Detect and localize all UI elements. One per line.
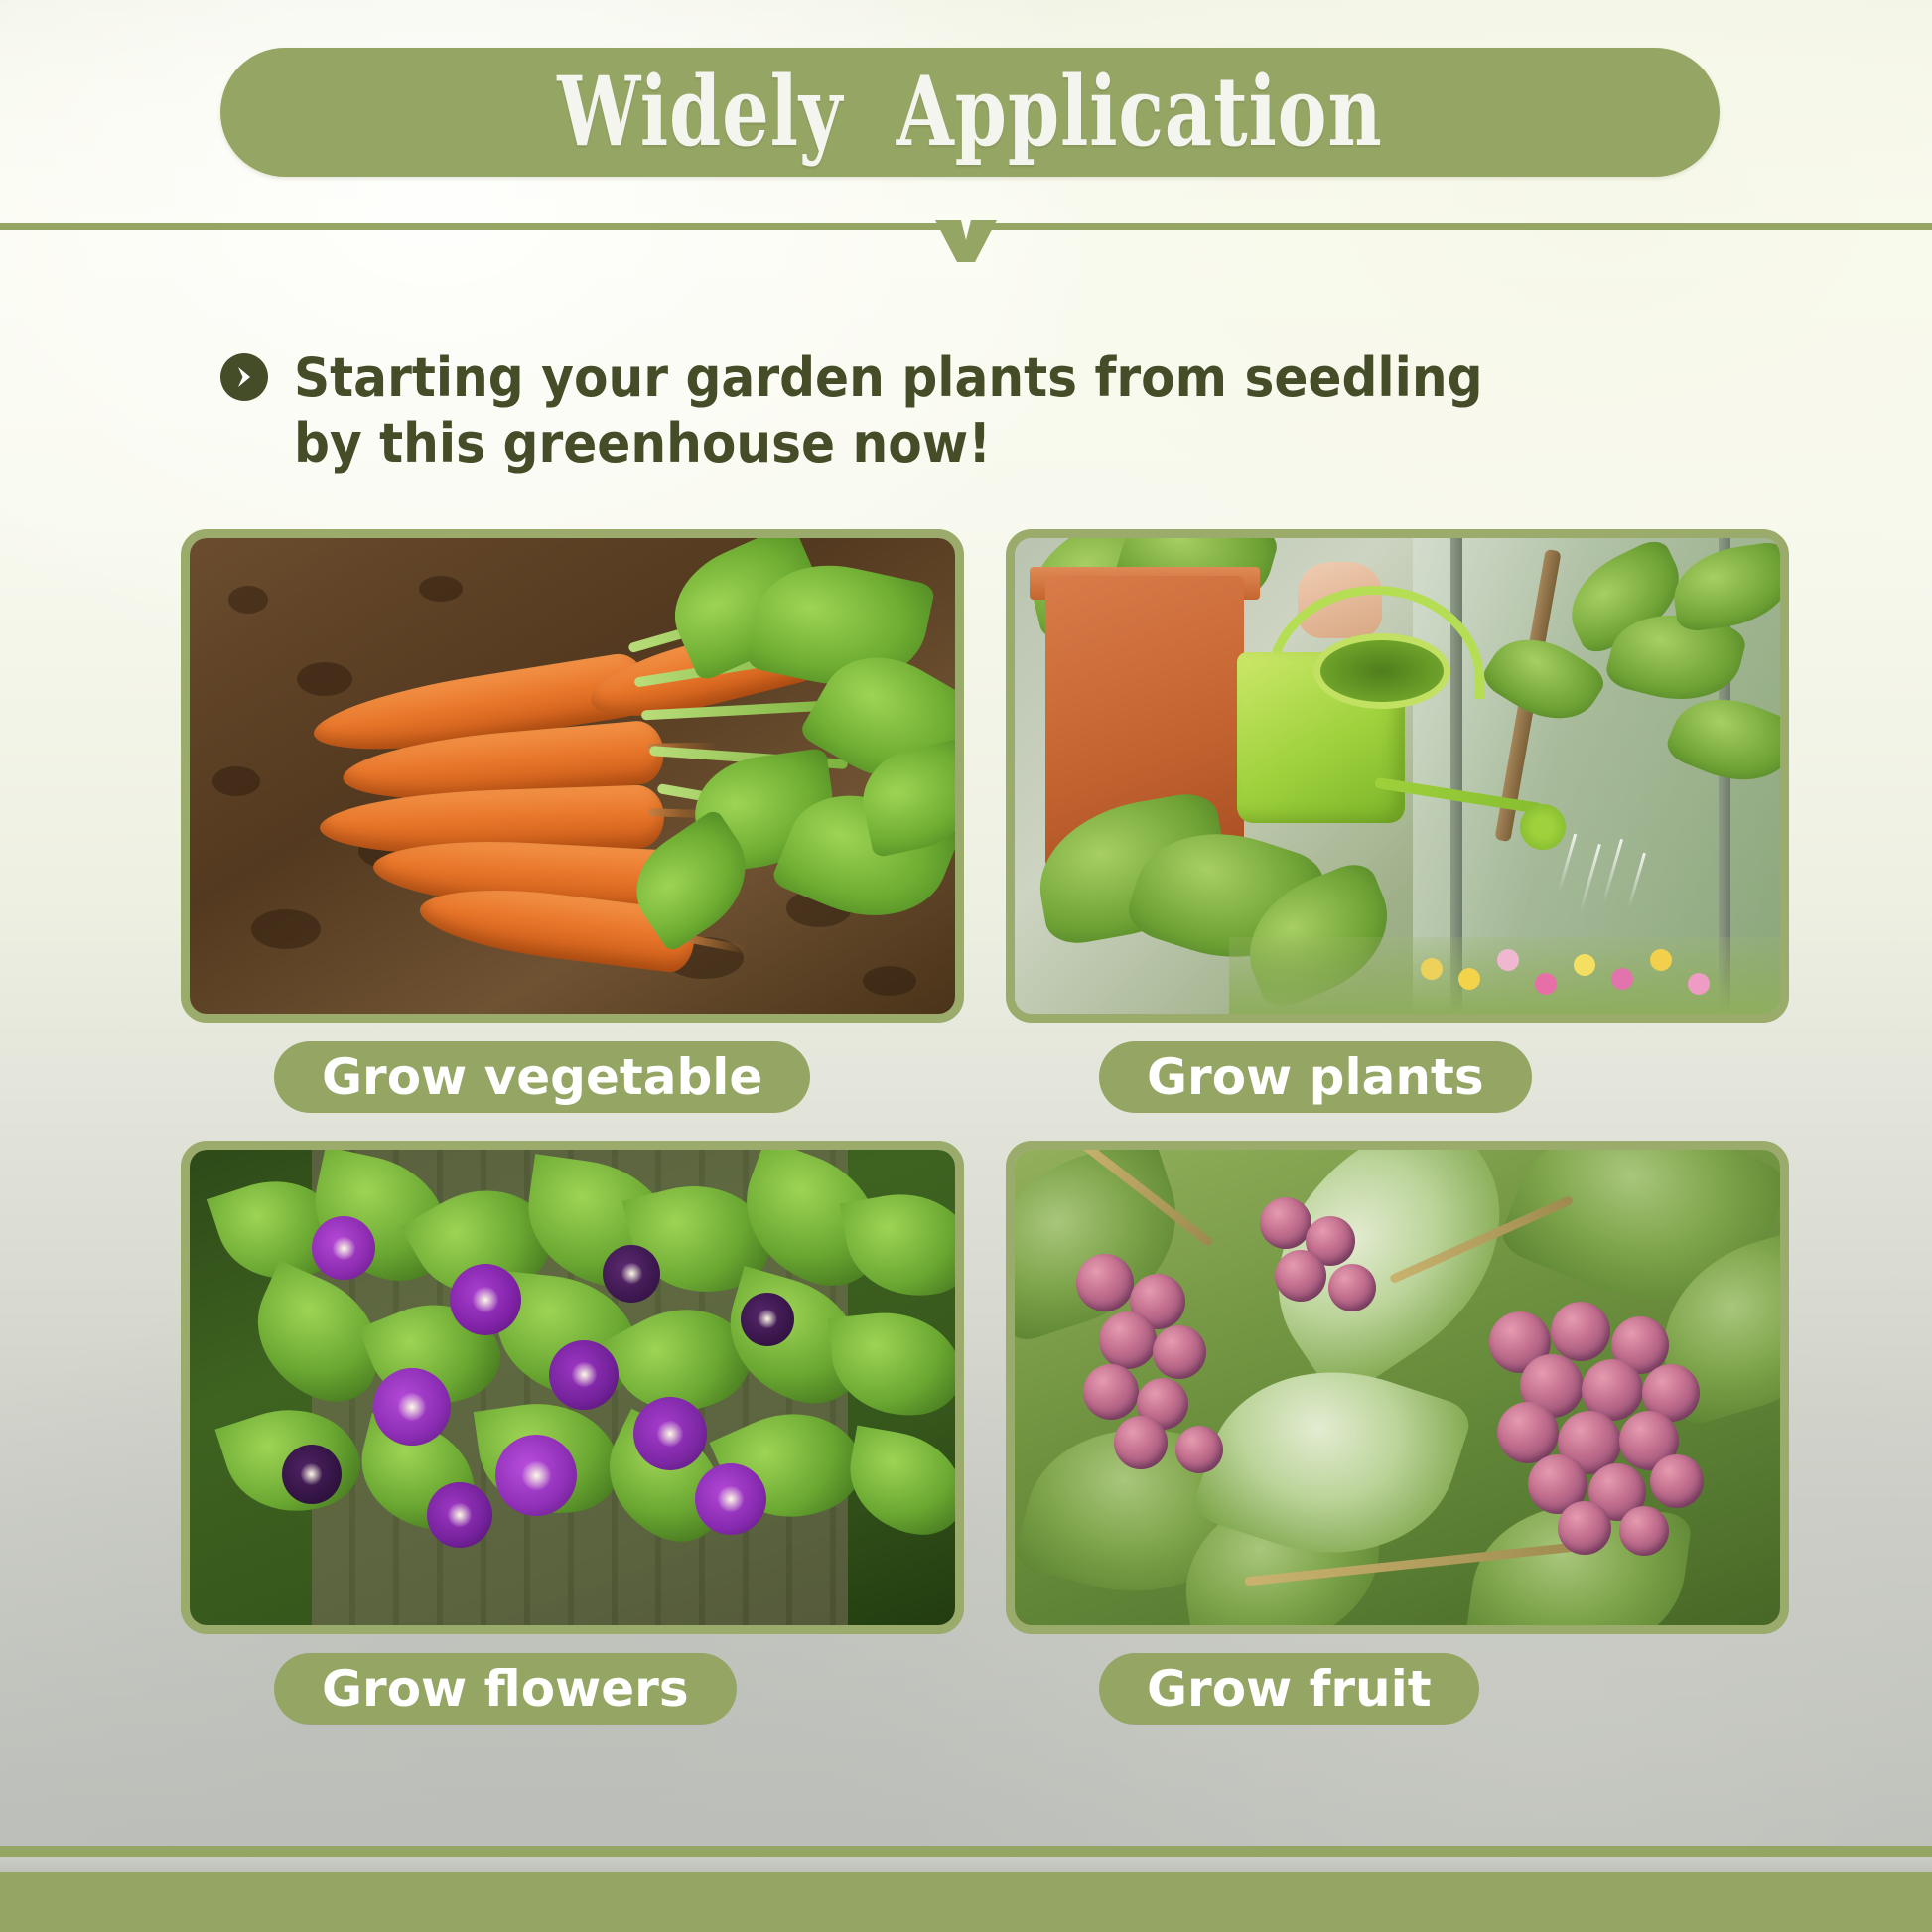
title-banner: Widely Application — [220, 48, 1720, 177]
photo-grapes — [1015, 1150, 1780, 1625]
photo-frame-flowers — [181, 1141, 964, 1634]
chevron-down-icon — [935, 220, 997, 262]
photo-morning-glories — [190, 1150, 955, 1625]
caption-pill-grow-vegetable: Grow vegetable — [274, 1041, 810, 1113]
page-title: Widely Application — [557, 65, 1382, 160]
caption-label: Grow flowers — [322, 1664, 689, 1714]
divider-rule-left — [0, 223, 953, 230]
caption-label: Grow plants — [1147, 1052, 1484, 1102]
photo-frame-grapes — [1006, 1141, 1789, 1634]
gallery-item-grow-vegetable[interactable]: Grow vegetable — [181, 529, 964, 1125]
caption-pill-grow-plants: Grow plants — [1099, 1041, 1532, 1113]
photo-carrots — [190, 538, 955, 1014]
gallery-row-bottom: Grow flowers — [181, 1141, 1789, 1736]
photo-frame-watering — [1006, 529, 1789, 1023]
watering-can-rose — [1520, 804, 1566, 850]
gallery-item-grow-plants[interactable]: Grow plants — [1006, 529, 1789, 1125]
caption-label: Grow vegetable — [322, 1052, 762, 1102]
footer-band — [0, 1872, 1932, 1932]
caption-label: Grow fruit — [1147, 1664, 1432, 1714]
caption-pill-grow-flowers: Grow flowers — [274, 1653, 737, 1725]
caption-pill-grow-fruit: Grow fruit — [1099, 1653, 1479, 1725]
footer-gap — [0, 1857, 1932, 1872]
intro-bullet-row: Starting your garden plants from seedlin… — [220, 345, 1650, 477]
section-divider — [0, 223, 1932, 269]
gallery-row-top: Grow vegetable — [181, 529, 1789, 1125]
intro-text: Starting your garden plants from seedlin… — [294, 345, 1555, 477]
chevron-right-circle-icon — [220, 353, 268, 401]
watering-can-mouth — [1313, 633, 1451, 710]
photo-watering-can — [1015, 538, 1780, 1014]
divider-rule-right — [979, 223, 1932, 230]
photo-frame-carrots — [181, 529, 964, 1023]
infographic-page: Widely Application Starting your garden … — [0, 0, 1932, 1932]
footer-stripe — [0, 1846, 1932, 1857]
gallery-item-grow-fruit[interactable]: Grow fruit — [1006, 1141, 1789, 1736]
gallery-item-grow-flowers[interactable]: Grow flowers — [181, 1141, 964, 1736]
application-gallery: Grow vegetable — [181, 529, 1789, 1736]
